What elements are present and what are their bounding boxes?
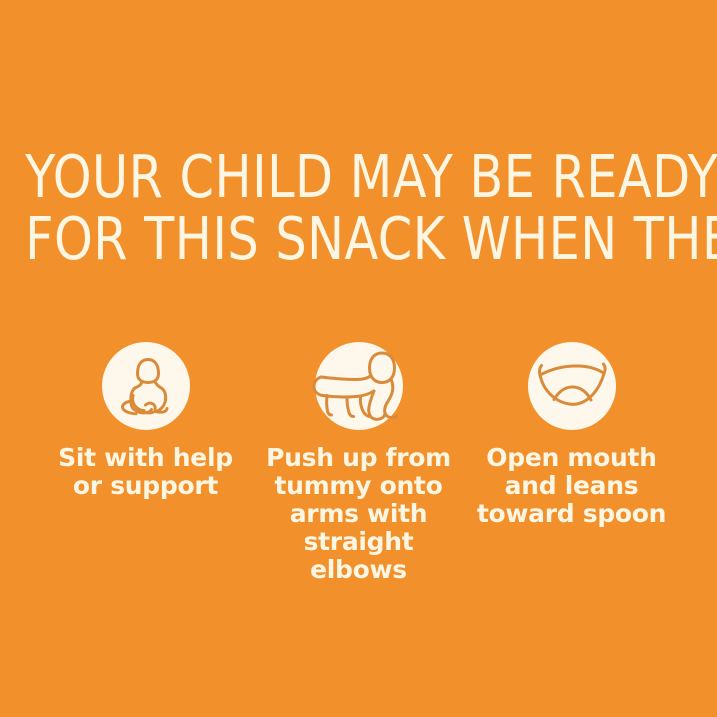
list-item: Open mouth and leans toward spoon — [465, 342, 678, 528]
readiness-infographic: YOUR CHILD MAY BE READY FOR THIS SNACK W… — [0, 0, 717, 717]
icon-badge-open-mouth — [528, 342, 616, 430]
list-item: Sit with help or support — [39, 342, 252, 500]
icon-badge-seated-baby — [102, 342, 190, 430]
list-item-caption: Open mouth and leans toward spoon — [477, 444, 666, 528]
list-item: Push up from tummy onto arms with straig… — [252, 342, 465, 584]
list-item-caption: Push up from tummy onto arms with straig… — [252, 444, 465, 584]
page-title: YOUR CHILD MAY BE READY FOR THIS SNACK W… — [0, 146, 717, 270]
list-item-caption: Sit with help or support — [58, 444, 233, 500]
seated-baby-icon — [107, 347, 185, 425]
page-title-line-2: FOR THIS SNACK WHEN THEY: — [25, 208, 692, 270]
open-mouth-icon — [534, 356, 610, 416]
icon-badge-tummy-time — [315, 342, 403, 430]
readiness-cue-list: Sit with help or support — [0, 342, 717, 584]
page-title-line-1: YOUR CHILD MAY BE READY — [25, 146, 692, 208]
tummy-time-baby-icon — [307, 344, 411, 428]
